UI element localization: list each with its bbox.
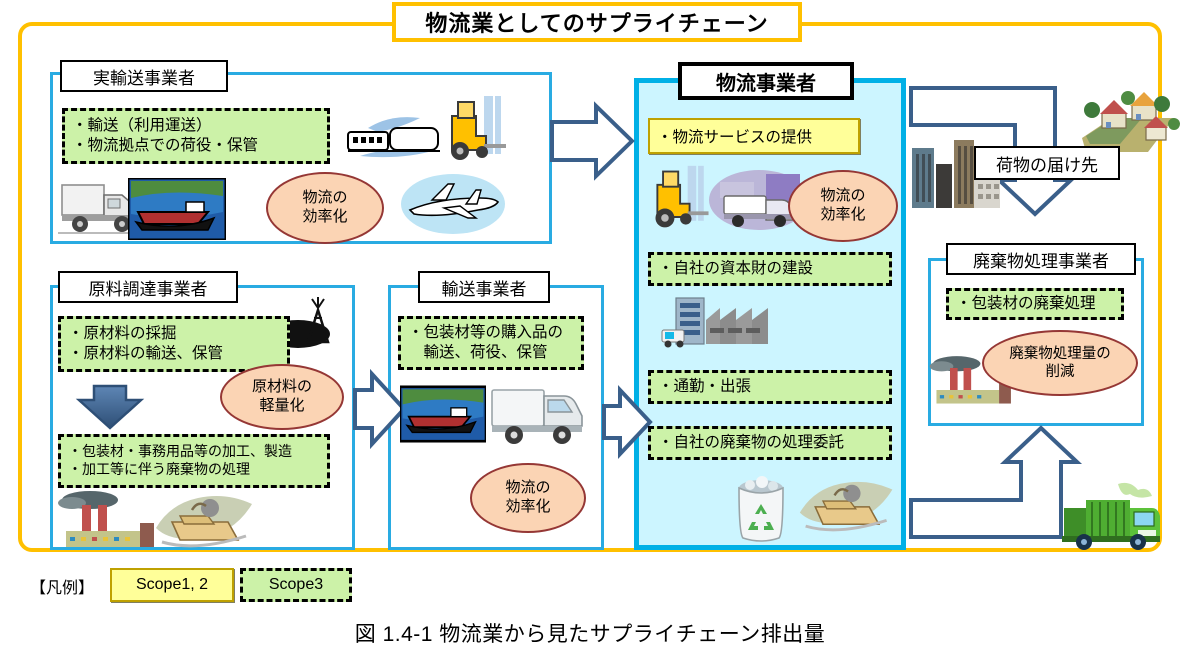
ellipse-efficiency-transport-operator: 物流の 効率化 — [470, 463, 586, 533]
scope3-item: ・包装材・事務用品等の加工、製造 — [68, 443, 292, 461]
ellipse-line: 効率化 — [302, 208, 347, 227]
legend-scope3-text: Scope3 — [269, 576, 323, 594]
ellipse-line: 削減 — [1046, 363, 1075, 381]
panel-title-actual-transport: 実輸送事業者 — [60, 60, 228, 92]
scope3-item: ・原材料の採掘 — [68, 324, 177, 344]
ellipse-efficiency-actual-transport: 物流の 効率化 — [266, 172, 384, 244]
ellipse-lightweight-material: 原材料の 軽量化 — [220, 364, 344, 430]
panel-title-waste-processor: 廃棄物処理事業者 — [946, 243, 1136, 275]
scope3-item: ・包装材等の購入品の — [408, 323, 563, 343]
scope3-item: ・自社の廃棄物の処理委託 — [658, 433, 844, 453]
legend-scope12-text: Scope1, 2 — [136, 576, 208, 594]
factory-icon — [56, 487, 160, 549]
scope3-box-waste-outsourcing: ・自社の廃棄物の処理委託 — [648, 426, 892, 460]
garbage-truck-icon — [1058, 480, 1166, 552]
cargo-ship-icon — [128, 178, 226, 240]
truck-icon — [488, 382, 592, 450]
airplane-icon — [398, 168, 508, 238]
scope3-box-procurement-top: ・原材料の採掘 ・原材料の輸送、保管 — [58, 316, 290, 372]
scope3-item: ・原材料の輸送、保管 — [68, 344, 223, 364]
ellipse-line: 原材料の — [252, 378, 312, 397]
figure-caption-text: 図 1.4-1 物流業から見たサプライチェーン排出量 — [355, 623, 825, 646]
scope3-box-packaging-disposal: ・包装材の廃棄処理 — [946, 288, 1124, 320]
figure-caption: 図 1.4-1 物流業から見たサプライチェーン排出量 — [0, 618, 1180, 648]
scope3-item: ・自社の資本財の建設 — [658, 259, 813, 279]
ellipse-line: 物流の — [820, 187, 865, 206]
scope3-item: 輸送、荷役、保管 — [408, 343, 548, 363]
ellipse-efficiency-logistics-operator: 物流の 効率化 — [788, 170, 898, 242]
scope3-box-commuting: ・通勤・出張 — [648, 370, 892, 404]
cardboard-waste-icon — [152, 486, 262, 552]
panel-title-transport-operator: 輸送事業者 — [418, 271, 550, 303]
scope3-box-procurement-bottom: ・包装材・事務用品等の加工、製造 ・加工等に伴う廃棄物の処理 — [58, 434, 330, 488]
panel-title-text: 実輸送事業者 — [93, 64, 195, 89]
panel-title-delivery-destination: 荷物の届け先 — [974, 146, 1120, 180]
scope3-box-transport-operator: ・包装材等の購入品の 輸送、荷役、保管 — [398, 316, 584, 370]
legend-scope3-box: Scope3 — [240, 568, 352, 602]
panel-title-text: 荷物の届け先 — [996, 151, 1098, 176]
scope3-item: ・包装材の廃棄処理 — [956, 294, 1096, 314]
main-title-text: 物流業としてのサプライチェーン — [425, 6, 768, 38]
panel-title-material-procurement: 原料調達事業者 — [58, 271, 238, 303]
recycle-bin-icon — [730, 474, 792, 546]
scope3-item: ・加工等に伴う廃棄物の処理 — [68, 461, 250, 479]
forklift-icon — [440, 92, 516, 168]
legend-label-text: 【凡例】 — [30, 580, 94, 597]
ellipse-line: 効率化 — [505, 498, 550, 517]
ellipse-line: 軽量化 — [259, 397, 304, 416]
scope3-item: ・物流拠点での荷役・保管 — [72, 136, 258, 156]
ellipse-line: 効率化 — [820, 206, 865, 225]
scope3-box-capital-goods: ・自社の資本財の建設 — [648, 252, 892, 286]
cargo-ship-icon — [400, 385, 486, 443]
scope12-box-logistics-service: ・物流サービスの提供 — [648, 118, 860, 154]
panel-title-text: 物流事業者 — [716, 67, 816, 96]
ellipse-line: 廃棄物処理量の — [1009, 345, 1111, 363]
scope3-item: ・輸送（利用運送） — [72, 116, 212, 136]
panel-title-text: 廃棄物処理事業者 — [973, 247, 1109, 272]
legend-label: 【凡例】 — [30, 574, 94, 598]
panel-title-text: 輸送事業者 — [442, 275, 527, 300]
office-factory-icon — [660, 296, 790, 360]
scope12-item: ・物流サービスの提供 — [657, 125, 812, 147]
panel-title-logistics-operator: 物流事業者 — [678, 62, 854, 100]
main-title: 物流業としてのサプライチェーン — [392, 2, 802, 42]
ellipse-line: 物流の — [302, 189, 347, 208]
train-icon — [340, 110, 450, 170]
ellipse-line: 物流の — [505, 479, 550, 498]
legend-scope12-box: Scope1, 2 — [110, 568, 234, 602]
ellipse-waste-reduction: 廃棄物処理量の 削減 — [982, 330, 1138, 396]
panel-title-text: 原料調達事業者 — [89, 275, 208, 300]
cardboard-waste-icon — [796, 472, 902, 536]
scope3-box-actual-transport: ・輸送（利用運送） ・物流拠点での荷役・保管 — [62, 108, 330, 164]
scope3-item: ・通勤・出張 — [658, 377, 751, 397]
